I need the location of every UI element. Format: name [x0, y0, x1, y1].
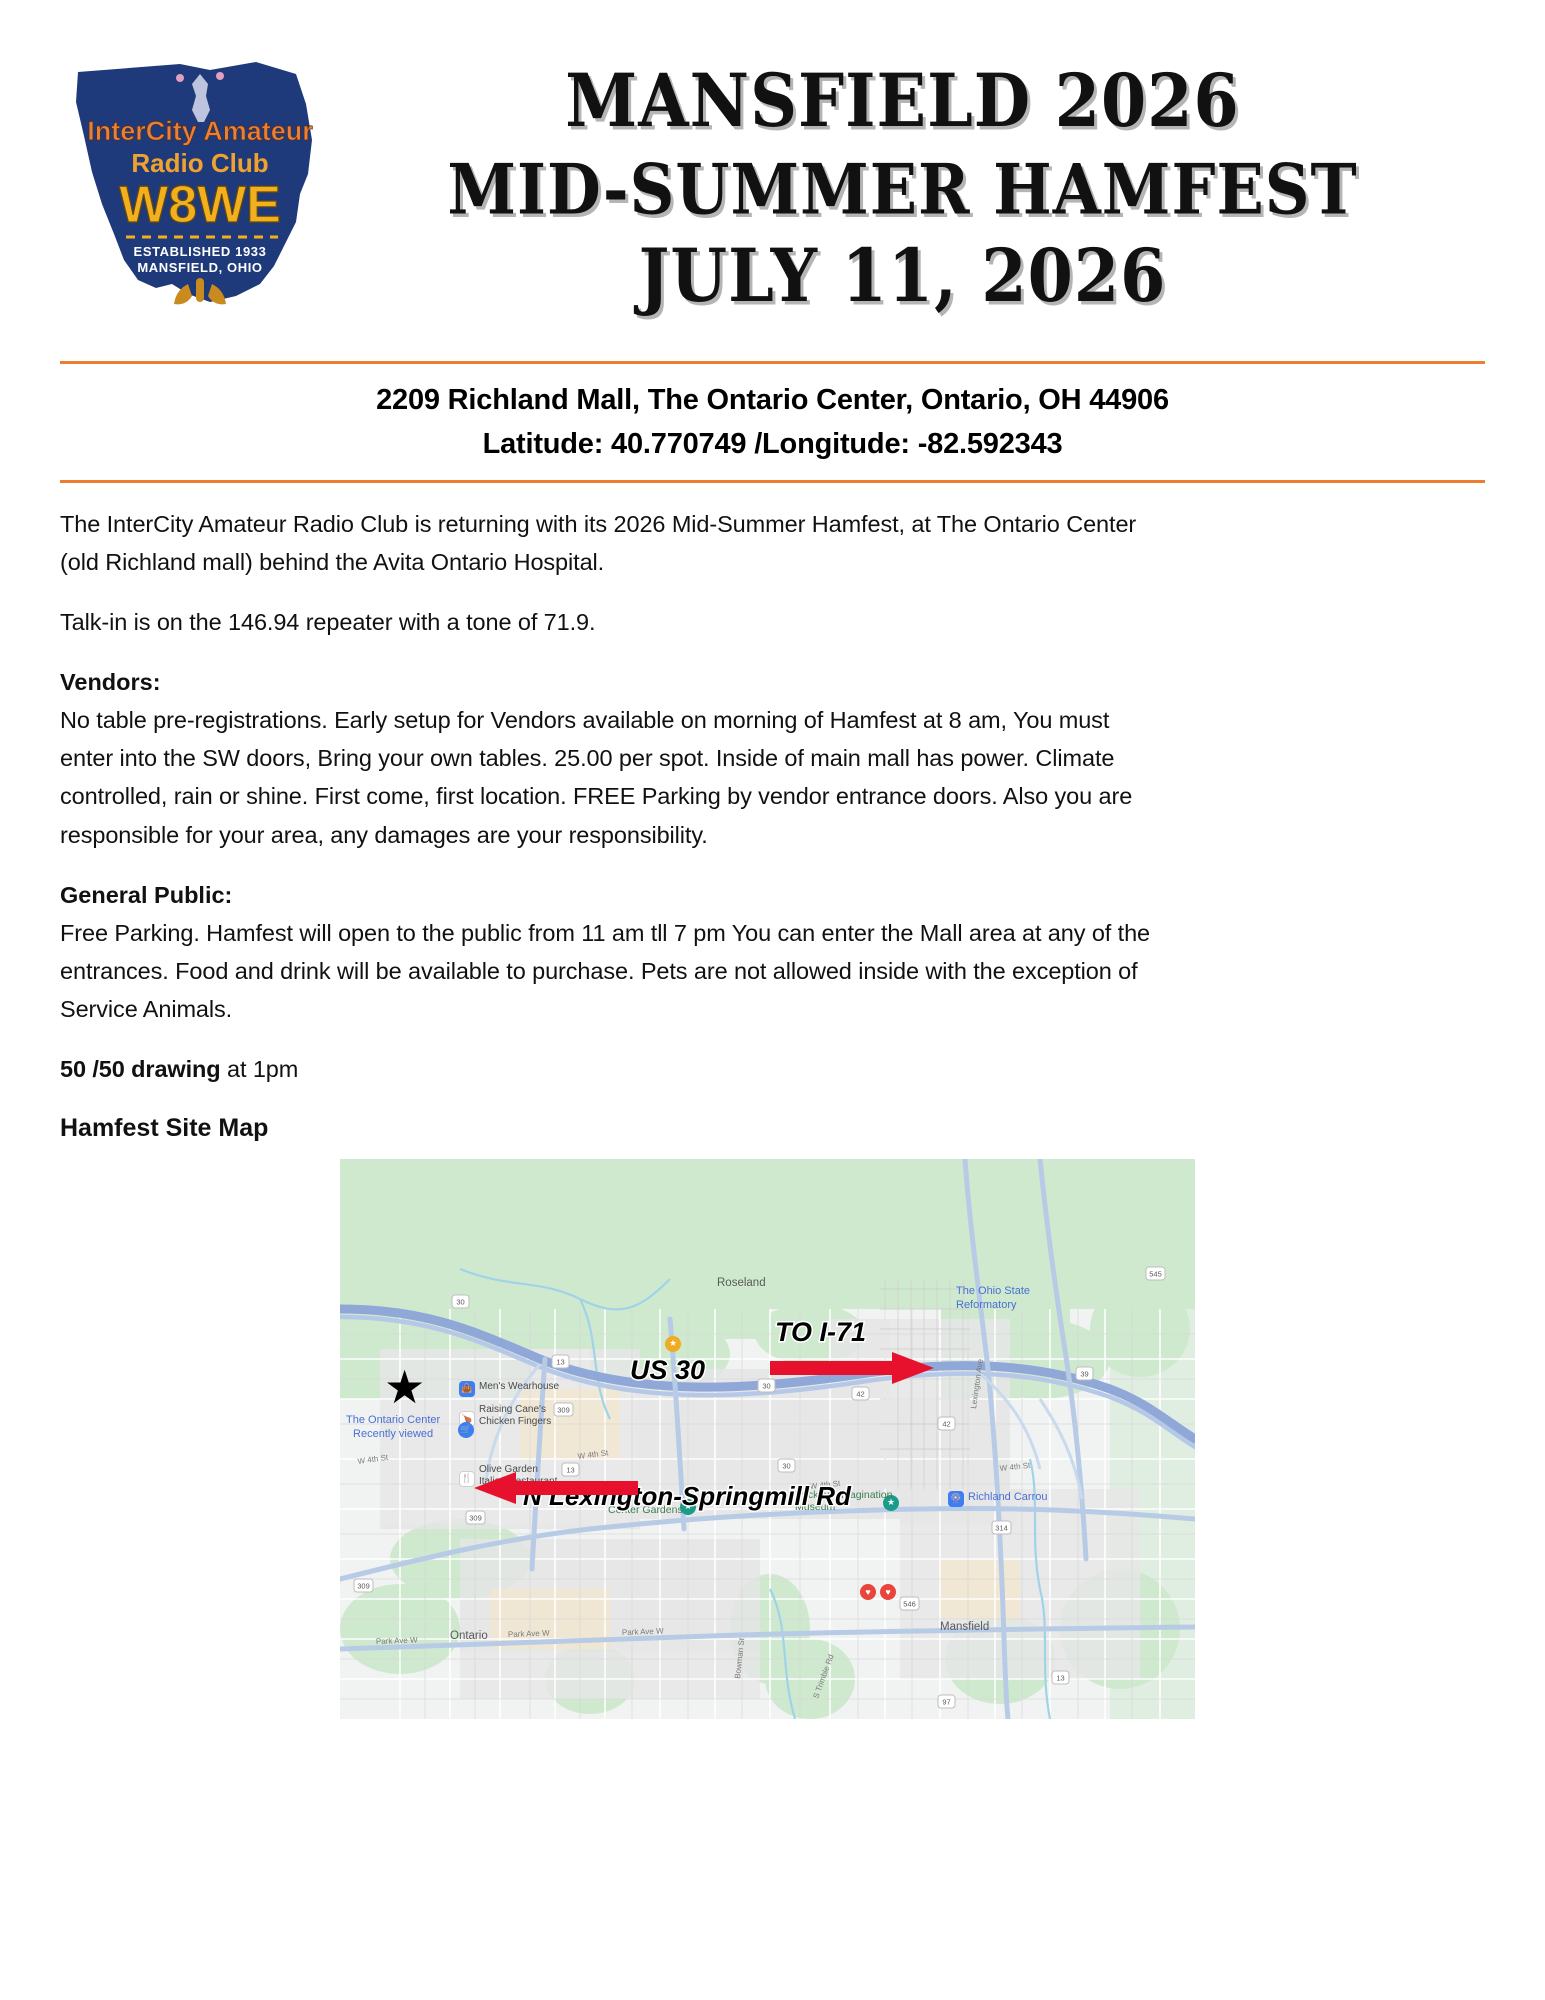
svg-text:Park Ave W: Park Ave W [508, 1628, 550, 1638]
ohio-state-logo-icon: InterCity Amateur Radio Club W8WE ESTABL… [60, 44, 340, 314]
svg-text:30: 30 [456, 1297, 464, 1306]
svg-text:545: 545 [1149, 1269, 1162, 1278]
svg-text:13: 13 [1056, 1673, 1064, 1682]
map-canvas: W 4th St W 4th St W 4th St W 4th St Park… [340, 1159, 1195, 1719]
svg-text:309: 309 [469, 1513, 482, 1522]
svg-text:ESTABLISHED 1933: ESTABLISHED 1933 [134, 244, 267, 259]
svg-text:42: 42 [856, 1389, 864, 1398]
venue-address: 2209 Richland Mall, The Ontario Center, … [60, 378, 1485, 422]
svg-text:309: 309 [557, 1405, 570, 1414]
site-map-heading: Hamfest Site Map [0, 1110, 1545, 1143]
intro-paragraph: The InterCity Amateur Radio Club is retu… [60, 505, 1165, 581]
title-line-3: JULY 11, 2026 [340, 227, 1465, 327]
venue-star-marker: ★ [384, 1364, 425, 1410]
svg-text:39: 39 [1080, 1369, 1088, 1378]
svg-text:309: 309 [357, 1581, 370, 1590]
general-public-heading: General Public: [60, 876, 1485, 914]
richland-carrousel-pin-icon: 🎡 [948, 1491, 964, 1507]
title-block: MANSFIELD 2026 MID-SUMMER HAMFEST JULY 1… [340, 30, 1485, 317]
venue-coordinates: Latitude: 40.770749 /Longitude: -82.5923… [60, 422, 1485, 466]
address-block: 2209 Richland Mall, The Ontario Center, … [0, 364, 1545, 472]
arrow-left-icon [468, 1471, 638, 1505]
ontario-center-pin-icon: 🛒 [458, 1422, 474, 1438]
club-logo: InterCity Amateur Radio Club W8WE ESTABL… [60, 30, 340, 314]
title-line-2: MID-SUMMER HAMFEST [340, 142, 1465, 238]
vendors-heading: Vendors: [60, 663, 1485, 701]
svg-text:30: 30 [782, 1461, 790, 1470]
svg-text:42: 42 [942, 1419, 950, 1428]
svg-text:Radio Club: Radio Club [131, 148, 268, 178]
header: InterCity Amateur Radio Club W8WE ESTABL… [0, 0, 1545, 317]
heart-poi-pin-icon-2: ♥ [880, 1584, 896, 1600]
mens-wearhouse-pin-icon: 👜 [459, 1381, 475, 1397]
heart-poi-pin-icon: ♥ [860, 1584, 876, 1600]
svg-text:546: 546 [903, 1599, 916, 1608]
general-public-paragraph: Free Parking. Hamfest will open to the p… [60, 914, 1165, 1028]
arrow-right-icon [770, 1351, 935, 1385]
svg-text:97: 97 [942, 1697, 950, 1706]
svg-text:InterCity Amateur: InterCity Amateur [87, 116, 313, 146]
annotation-us-30: US 30 [630, 1355, 705, 1386]
svg-text:W8WE: W8WE [119, 176, 281, 234]
buckeye-museum-pin-icon: ★ [883, 1495, 899, 1511]
svg-text:Park Ave W: Park Ave W [622, 1626, 664, 1636]
title-line-1: MANSFIELD 2026 [340, 52, 1465, 152]
flyer-page: InterCity Amateur Radio Club W8WE ESTABL… [0, 0, 1545, 2000]
talkin-paragraph: Talk-in is on the 146.94 repeater with a… [60, 603, 1165, 641]
roseland-landmark-pin-icon: ★ [665, 1336, 681, 1352]
body-copy: The InterCity Amateur Radio Club is retu… [0, 483, 1545, 1088]
drawing-label: 50 /50 drawing [60, 1056, 221, 1082]
svg-text:13: 13 [556, 1357, 564, 1366]
hamfest-site-map[interactable]: W 4th St W 4th St W 4th St W 4th St Park… [340, 1159, 1195, 1719]
vendors-paragraph: No table pre-registrations. Early setup … [60, 701, 1165, 853]
svg-text:Park Ave W: Park Ave W [376, 1635, 418, 1645]
drawing-time: at 1pm [221, 1056, 299, 1082]
annotation-to-i71: TO I-71 [775, 1317, 866, 1348]
svg-text:314: 314 [995, 1523, 1008, 1532]
drawing-line: 50 /50 drawing at 1pm [60, 1050, 1165, 1088]
svg-text:MANSFIELD, OHIO: MANSFIELD, OHIO [137, 260, 262, 275]
